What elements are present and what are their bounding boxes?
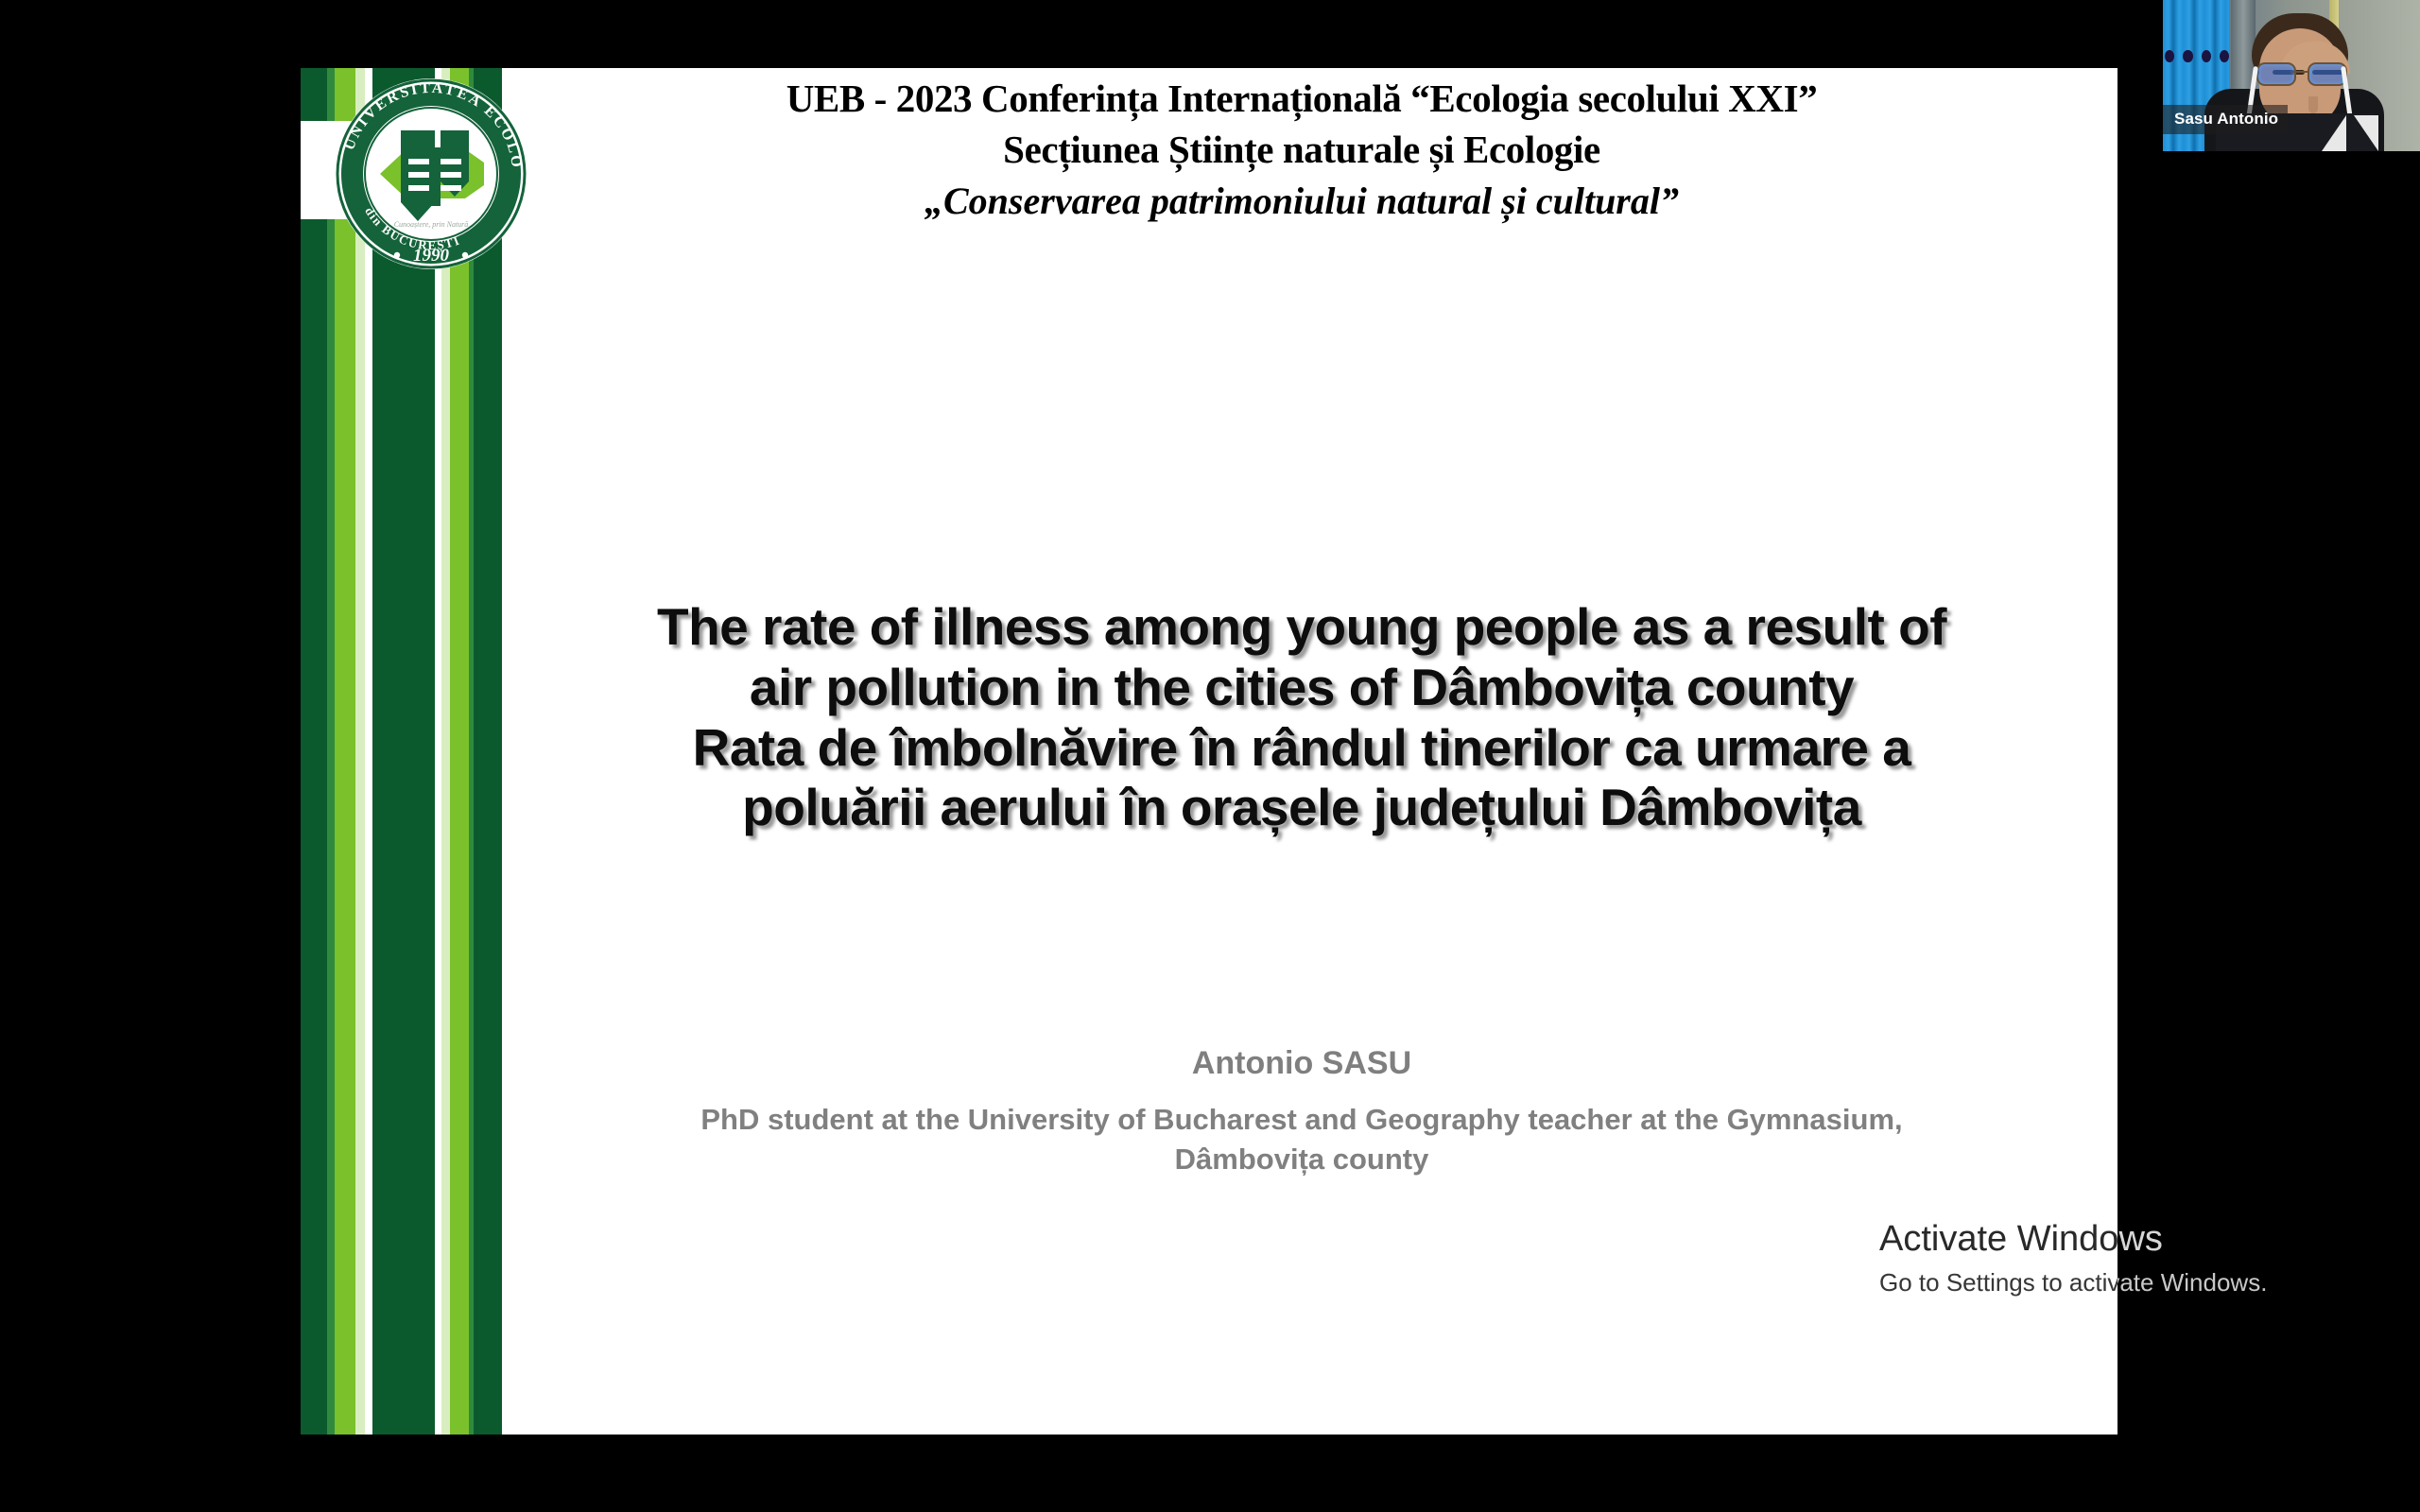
slide-title-line-2: air pollution in the cities of Dâmbovița… — [486, 658, 2117, 718]
lens-left — [2256, 62, 2296, 86]
slide-title-line-4: poluării aerului în orașele județului Dâ… — [486, 778, 2117, 838]
presentation-slide[interactable]: UNIVERSITATEA ECOLOGICĂ din BUCUREȘTI 19… — [301, 68, 2117, 1435]
conference-title-line: UEB - 2023 Conferința Internațională “Ec… — [486, 76, 2117, 121]
conference-section-line: Secțiunea Științe naturale și Ecologie — [486, 127, 2117, 172]
conference-theme-line: „Conservarea patrimoniului natural și cu… — [486, 179, 2117, 223]
curtain-dot — [2220, 50, 2229, 62]
slide-author-block: Antonio SASU PhD student at the Universi… — [486, 1041, 2117, 1180]
curtain-dot — [2183, 50, 2192, 62]
nose — [2308, 96, 2318, 113]
participant-video-tile[interactable]: Sasu Antonio — [2146, 0, 2420, 167]
eyeglasses — [2256, 62, 2344, 83]
video-feed: Sasu Antonio — [2163, 0, 2420, 151]
collar-left — [2322, 115, 2346, 151]
svg-text:Cunoaștere, prin Natură: Cunoaștere, prin Natură — [394, 220, 469, 229]
curtain-dots — [2165, 45, 2229, 66]
slide-title-block: The rate of illness among young people a… — [486, 597, 2117, 838]
participant-name-label: Sasu Antonio — [2163, 105, 2288, 134]
conference-header: UEB - 2023 Conferința Internațională “Ec… — [486, 76, 2117, 223]
author-affiliation: PhD student at the University of Buchare… — [486, 1100, 2117, 1181]
collar-right — [2354, 115, 2378, 151]
slide-title-line-3: Rata de îmbolnăvire în rândul tinerilor … — [486, 718, 2117, 779]
svg-text:1990: 1990 — [413, 246, 450, 266]
slide-title-line-1: The rate of illness among young people a… — [486, 597, 2117, 658]
glasses-bridge — [2292, 71, 2308, 73]
screen-share-stage: UNIVERSITATEA ECOLOGICĂ din BUCUREȘTI 19… — [0, 0, 2420, 1512]
curtain-dot — [2202, 50, 2211, 62]
curtain-dot — [2165, 50, 2174, 62]
author-name: Antonio SASU — [486, 1041, 2117, 1087]
